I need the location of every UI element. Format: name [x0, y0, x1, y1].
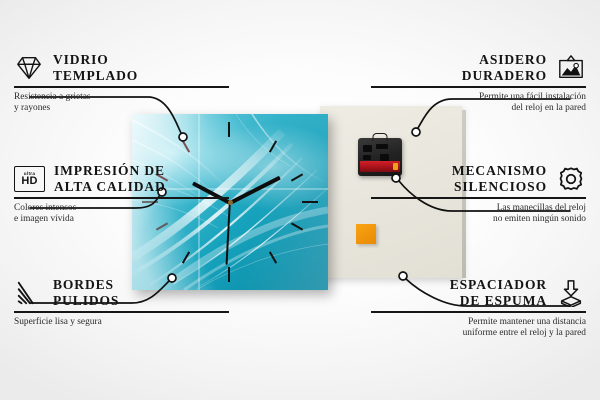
- connector-dot-asidero: [412, 128, 420, 136]
- feature-desc-line2: y rayones: [14, 103, 229, 115]
- feature-title-line1: ASIDERO: [462, 52, 547, 68]
- feature-header: BORDES PULIDOS: [14, 277, 229, 308]
- feature-header: ESPACIADOR DE ESPUMA: [371, 277, 586, 308]
- diamond-icon: [14, 54, 44, 82]
- connector-dot-vidrio: [179, 133, 187, 141]
- feature-bordes-pulidos: BORDES PULIDOS Superficie lisa y segura: [14, 277, 229, 328]
- feature-title-line2: DE ESPUMA: [450, 293, 547, 309]
- feature-espaciador-de-espuma: ESPACIADOR DE ESPUMA Permite mantener un…: [371, 277, 586, 340]
- feature-title-line1: MECANISMO: [452, 163, 547, 179]
- feature-desc-line1: Superficie lisa y segura: [14, 317, 229, 329]
- feature-desc-line2: del reloj en la pared: [371, 103, 586, 115]
- feature-desc-line1: Permite mantener una distancia: [371, 317, 586, 329]
- feature-desc-line1: Las manecillas del reloj: [371, 203, 586, 215]
- feature-title-line1: BORDES: [53, 277, 119, 293]
- feature-divider: [371, 311, 586, 313]
- feature-title-line2: ALTA CALIDAD: [54, 179, 166, 195]
- hanging-frame-icon: [556, 54, 586, 82]
- gear-icon: [556, 165, 586, 193]
- feature-title-line2: DURADERO: [462, 68, 547, 84]
- feature-desc-line1: Resistencia a grietas: [14, 92, 229, 104]
- ultra-hd-icon-large-label: HD: [21, 176, 37, 187]
- feature-header: ASIDERO DURADERO: [371, 52, 586, 83]
- feature-divider: [14, 86, 229, 88]
- feature-divider: [371, 197, 586, 199]
- feature-title-line2: PULIDOS: [53, 293, 119, 309]
- feature-asidero-duradero: ASIDERO DURADERO Permite una fácil insta…: [371, 52, 586, 115]
- ultra-hd-icon: ultra HD: [14, 166, 45, 192]
- feature-title-line1: ESPACIADOR: [450, 277, 547, 293]
- feature-divider: [14, 197, 229, 199]
- feature-title-line1: IMPRESIÓN DE: [54, 163, 166, 179]
- feature-divider: [371, 86, 586, 88]
- feature-header: ultra HD IMPRESIÓN DE ALTA CALIDAD: [14, 163, 229, 194]
- feature-desc-line2: no emiten ningún sonido: [371, 214, 586, 226]
- feature-title-line2: SILENCIOSO: [452, 179, 547, 195]
- foam-spacer-icon: [556, 279, 586, 307]
- feature-title-line2: TEMPLADO: [53, 68, 138, 84]
- feature-mecanismo-silencioso: MECANISMO SILENCIOSO Las manecillas del …: [371, 163, 586, 226]
- polished-edges-icon: [14, 279, 44, 307]
- feature-desc-line1: Colores intensos: [14, 203, 229, 215]
- feature-title-line1: VIDRIO: [53, 52, 138, 68]
- feature-impresion-alta-calidad: ultra HD IMPRESIÓN DE ALTA CALIDAD Color…: [14, 163, 229, 226]
- feature-vidrio-templado: VIDRIO TEMPLADO Resistencia a grietas y …: [14, 52, 229, 115]
- product-infographic: VIDRIO TEMPLADO Resistencia a grietas y …: [0, 0, 600, 400]
- feature-header: MECANISMO SILENCIOSO: [371, 163, 586, 194]
- feature-desc-line1: Permite una fácil instalación: [371, 92, 586, 104]
- feature-desc-line2: uniforme entre el reloj y la pared: [371, 328, 586, 340]
- feature-desc-line2: e imagen vívida: [14, 214, 229, 226]
- feature-divider: [14, 311, 229, 313]
- feature-header: VIDRIO TEMPLADO: [14, 52, 229, 83]
